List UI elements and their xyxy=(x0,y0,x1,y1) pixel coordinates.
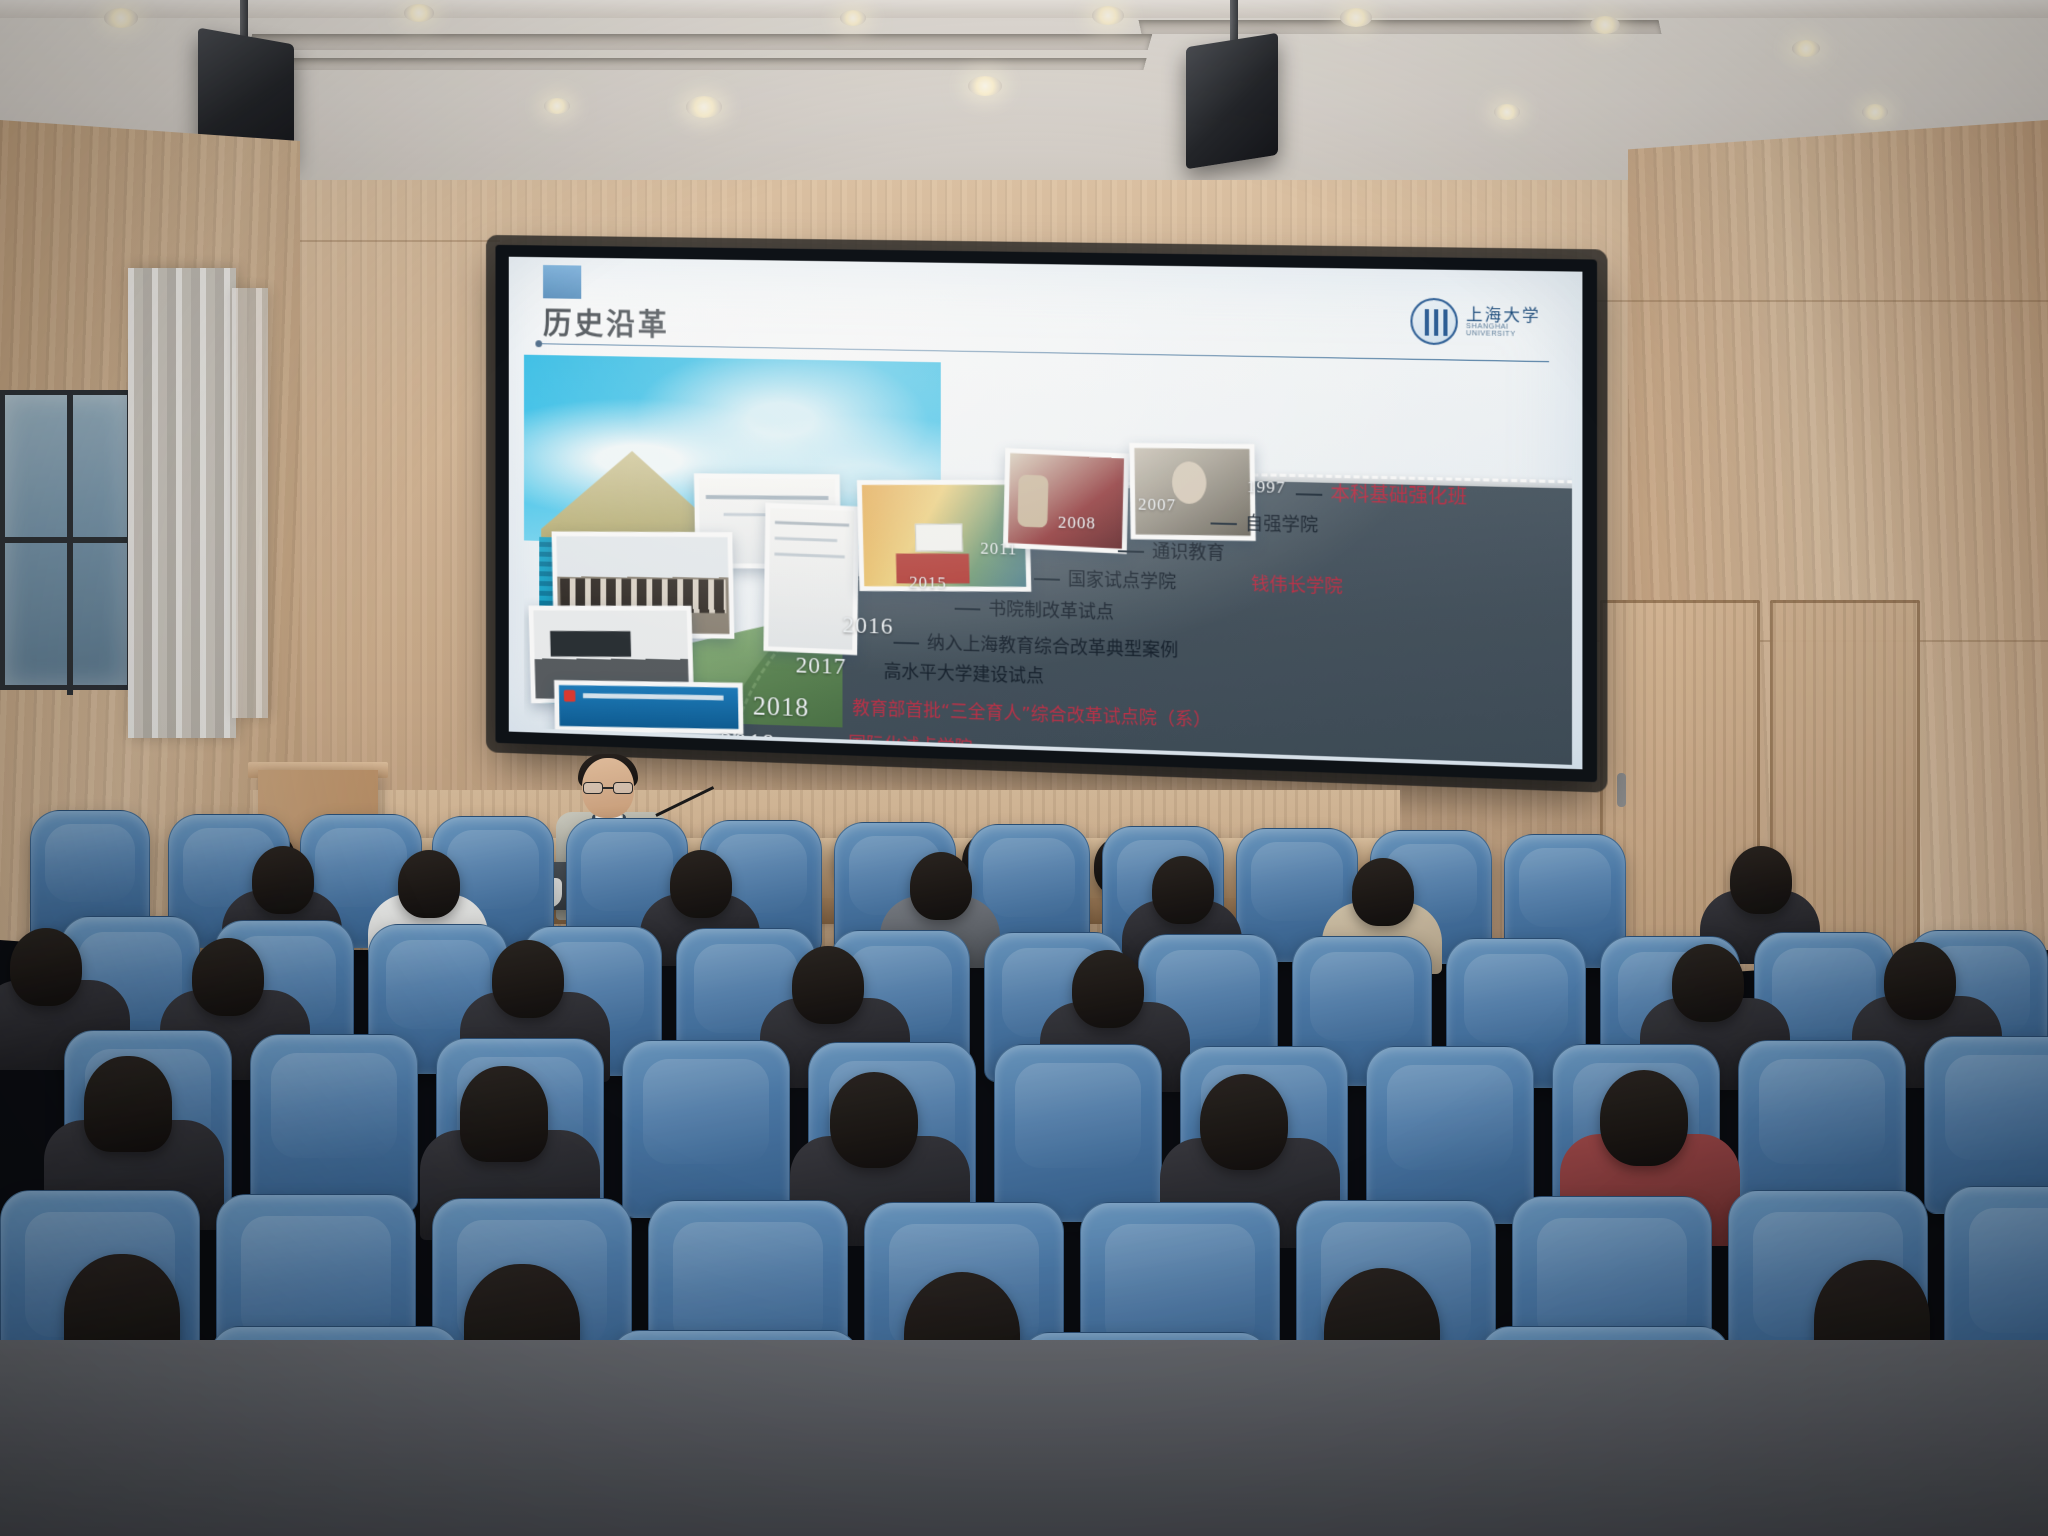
leader-line xyxy=(1034,578,1060,581)
audience-head xyxy=(84,1056,172,1152)
timeline-entry: 国际化试点学院 xyxy=(848,730,972,760)
audience-head xyxy=(10,928,82,1006)
timeline-year: 2011 xyxy=(980,539,1017,560)
timeline-entry: 高水平大学建设试点 xyxy=(884,657,1044,688)
ceiling-light xyxy=(1092,6,1124,25)
timeline-year: 2016 xyxy=(842,612,893,640)
audience-head xyxy=(1672,944,1744,1022)
projection-screen: 历史沿革 上海大学 SHANGHAI UNIVERSITY xyxy=(495,245,1597,782)
audience-head xyxy=(460,1066,548,1162)
speaker-mount xyxy=(240,0,248,40)
ceiling-light xyxy=(968,76,1002,96)
ceiling-light xyxy=(840,10,866,26)
window-left xyxy=(0,390,132,690)
timeline-entry: 书院制改革试点 xyxy=(955,594,1114,625)
audience-head xyxy=(1200,1074,1288,1170)
timeline-entry: 自强学院 xyxy=(1211,508,1319,537)
timeline-year: 2015 xyxy=(909,573,946,594)
speaker-mount xyxy=(1230,0,1238,44)
audience-head xyxy=(192,938,264,1016)
university-logo: 上海大学 SHANGHAI UNIVERSITY xyxy=(1410,296,1544,353)
ceiling-slot-3 xyxy=(1139,20,1662,34)
ceiling-light xyxy=(404,4,434,22)
ceiling-speaker-right xyxy=(1186,33,1278,170)
audience-head xyxy=(670,850,732,918)
curtain-left xyxy=(128,268,236,738)
ceiling-band xyxy=(0,0,2048,18)
leader-line xyxy=(894,642,920,645)
glasses-icon xyxy=(583,782,633,794)
leader-line xyxy=(955,608,981,611)
door-handle-icon[interactable] xyxy=(1617,773,1626,807)
auditorium-seat[interactable] xyxy=(622,1040,790,1218)
timeline-entry: 国家试点学院 xyxy=(1034,564,1176,594)
ceiling-light xyxy=(1340,8,1372,27)
aisle-floor xyxy=(0,1340,2048,1536)
timeline-year: 2018 xyxy=(753,691,809,724)
slide-accent-tab xyxy=(543,265,581,299)
leader-line xyxy=(1118,550,1144,553)
ceiling-light xyxy=(686,96,722,118)
auditorium-seat[interactable] xyxy=(994,1044,1162,1222)
audience-head xyxy=(1152,856,1214,924)
logo-name-en: SHANGHAI UNIVERSITY xyxy=(1466,323,1545,339)
wall-seam xyxy=(1540,300,2048,302)
audience-head xyxy=(910,852,972,920)
slide-title: 历史沿革 xyxy=(543,298,670,343)
audience-head xyxy=(1600,1070,1688,1166)
shu-emblem-icon xyxy=(1410,298,1457,346)
timeline-year: 2017 xyxy=(796,653,847,681)
wall-seam xyxy=(300,240,500,242)
audience-head xyxy=(252,846,314,914)
audience-head xyxy=(1884,942,1956,1020)
timeline-entry: 钱伟长学院 xyxy=(1251,570,1343,599)
timeline-year: 1997 xyxy=(1247,477,1286,498)
timeline-year: 2007 xyxy=(1138,495,1176,516)
audience-head xyxy=(792,946,864,1024)
audience-head xyxy=(830,1072,918,1168)
leader-line xyxy=(1211,522,1237,525)
leader-line xyxy=(1296,493,1323,496)
ceiling-light xyxy=(104,8,138,28)
audience-head xyxy=(492,940,564,1018)
collage-speech-photo xyxy=(1003,448,1129,554)
auditorium-seat[interactable] xyxy=(250,1034,418,1212)
timeline-entry: 本科基础强化班 xyxy=(1296,478,1467,509)
ceiling-light xyxy=(1862,104,1888,120)
timeline-year: 2008 xyxy=(1058,513,1096,534)
window-mullion xyxy=(67,395,73,695)
curtain-left-edge xyxy=(232,288,268,718)
slide-content: 1997 2007 2008 2011 2015 2016 2017 2018 … xyxy=(524,355,1572,765)
ceiling-slot-1 xyxy=(248,34,1153,50)
collage-website-photo xyxy=(554,680,743,734)
ceiling-slot-2 xyxy=(263,58,1146,70)
audience-head xyxy=(1730,846,1792,914)
timeline-entry: 通识教育 xyxy=(1118,536,1225,565)
ceiling-light xyxy=(1792,40,1820,57)
ceiling-light xyxy=(1494,104,1520,120)
audience-head xyxy=(1352,858,1414,926)
slide-surface: 历史沿革 上海大学 SHANGHAI UNIVERSITY xyxy=(509,257,1583,770)
ceiling-light xyxy=(1590,16,1620,34)
audience-head xyxy=(1072,950,1144,1028)
ceiling-light xyxy=(544,98,570,114)
auditorium-seat[interactable] xyxy=(1366,1046,1534,1224)
audience-head xyxy=(398,850,460,918)
scene-root: 历史沿革 上海大学 SHANGHAI UNIVERSITY xyxy=(0,0,2048,1536)
